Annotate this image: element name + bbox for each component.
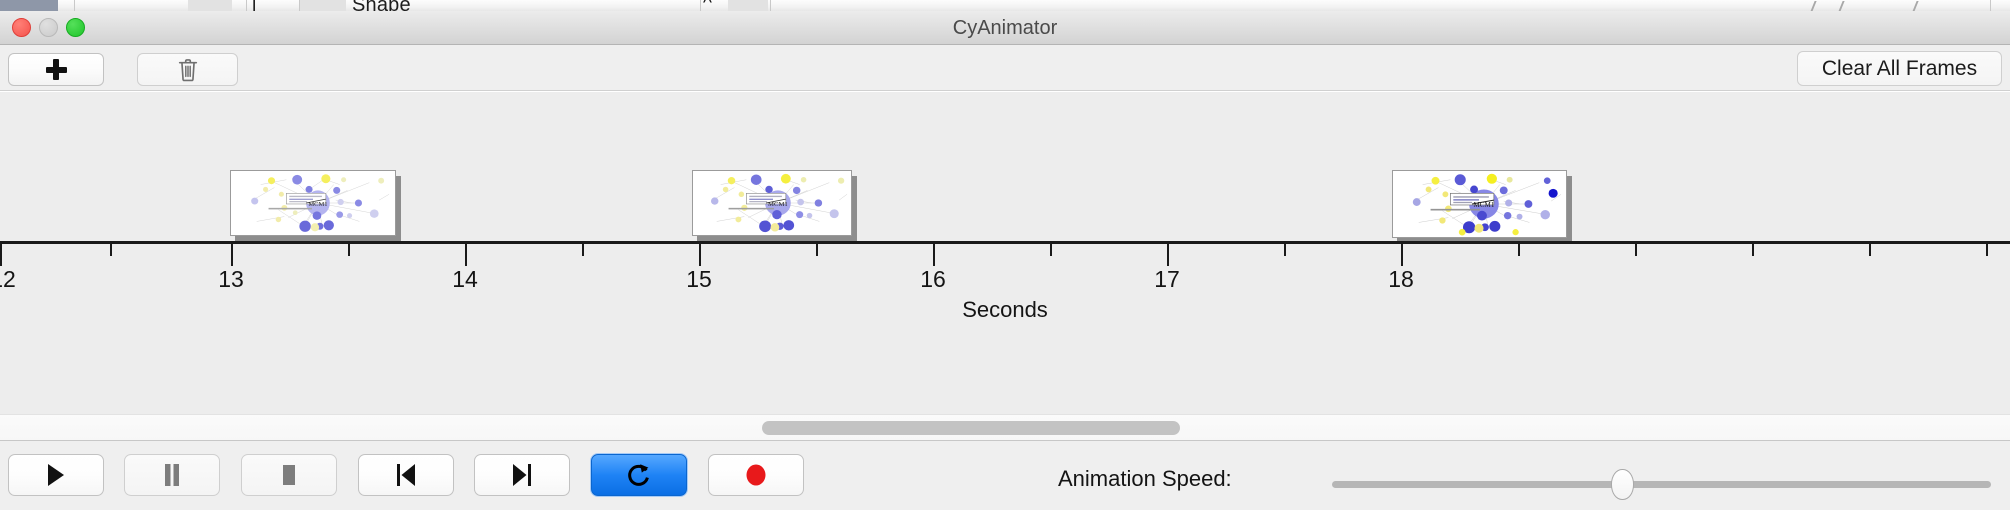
trash-icon xyxy=(177,58,199,82)
timeline-frame-thumbnail[interactable]: MCM1 xyxy=(230,170,396,236)
ruler-axis-line xyxy=(0,241,2010,244)
skip-to-end-button[interactable] xyxy=(474,454,570,496)
ruler-tick-major xyxy=(1401,244,1403,266)
ruler-tick-major xyxy=(465,244,467,266)
ruler-tick-minor xyxy=(1284,244,1286,256)
background-chevron xyxy=(1837,1,1856,11)
network-graph-frame-2: MCM1 xyxy=(693,171,851,235)
scrollbar-thumb[interactable] xyxy=(762,421,1180,435)
delete-frame-button[interactable] xyxy=(137,53,238,86)
background-chevron xyxy=(1911,1,1930,11)
ruler-label: 14 xyxy=(452,266,478,293)
animation-speed-label: Animation Speed: xyxy=(1058,466,1232,492)
timeline-panel[interactable]: MCM1 xyxy=(0,91,2010,414)
timeline-frame-thumbnail[interactable]: MCM1 xyxy=(1392,170,1567,238)
ruler-label: 17 xyxy=(1154,266,1180,293)
background-panel xyxy=(728,0,768,11)
background-dark-block xyxy=(0,0,58,11)
ruler-label: 15 xyxy=(686,266,712,293)
skip-back-icon xyxy=(395,463,417,487)
pause-icon xyxy=(162,463,182,487)
frame-sheet: MCM1 xyxy=(230,170,396,236)
timeline-ruler[interactable]: 12 13 14 15 16 17 18 Seconds xyxy=(0,241,2010,331)
toolbar: Clear All Frames xyxy=(0,45,2010,91)
stop-button[interactable] xyxy=(241,454,337,496)
ruler-tick-minor xyxy=(1635,244,1637,256)
ruler-tick-minor xyxy=(1752,244,1754,256)
loop-button[interactable] xyxy=(591,454,687,496)
background-app-strip: [ Shape ^ xyxy=(0,0,2010,11)
record-button[interactable] xyxy=(708,454,804,496)
cyanimator-window: [ Shape ^ CyAnimator xyxy=(0,0,2010,510)
ruler-tick-minor xyxy=(1869,244,1871,256)
slider-track[interactable] xyxy=(1332,481,1991,488)
ruler-tick-minor xyxy=(582,244,584,256)
network-graph-frame-3: MCM1 xyxy=(1393,171,1566,237)
background-panel xyxy=(300,0,346,11)
record-icon xyxy=(744,463,768,487)
ruler-tick-minor xyxy=(1518,244,1520,256)
network-graph-frame-1: MCM1 xyxy=(231,171,395,235)
ruler-tick-minor xyxy=(1050,244,1052,256)
pause-button[interactable] xyxy=(124,454,220,496)
ruler-tick-minor xyxy=(348,244,350,256)
background-chevron xyxy=(1809,1,1828,11)
ruler-axis-title: Seconds xyxy=(0,297,2010,323)
svg-text:MCM1: MCM1 xyxy=(1473,201,1494,209)
play-button[interactable] xyxy=(8,454,104,496)
ruler-tick-minor xyxy=(110,244,112,256)
plus-icon xyxy=(46,59,67,80)
frame-sheet: MCM1 xyxy=(692,170,852,236)
background-app-word: Shape xyxy=(352,0,411,11)
ruler-tick-major xyxy=(1167,244,1169,266)
loop-icon xyxy=(627,462,651,488)
frame-sheet: MCM1 xyxy=(1392,170,1567,238)
ruler-label: 18 xyxy=(1388,266,1414,293)
background-divider xyxy=(770,0,771,11)
background-panel xyxy=(188,0,232,11)
background-glyph-bracket: [ xyxy=(252,0,257,11)
title-bar[interactable]: CyAnimator xyxy=(0,11,2010,45)
ruler-tick-minor xyxy=(816,244,818,256)
background-divider xyxy=(246,0,247,11)
ruler-label: 12 xyxy=(0,266,16,293)
ruler-label: 16 xyxy=(920,266,946,293)
animation-speed-slider[interactable] xyxy=(1332,481,1991,488)
clear-all-frames-button[interactable]: Clear All Frames xyxy=(1797,51,2002,86)
ruler-tick-major xyxy=(231,244,233,266)
timeline-top-divider xyxy=(0,91,2010,92)
ruler-tick-minor xyxy=(1986,244,1988,256)
ruler-tick-major xyxy=(933,244,935,266)
svg-text:MCM1: MCM1 xyxy=(768,201,788,208)
timeline-frame-thumbnail[interactable]: MCM1 xyxy=(692,170,852,236)
add-frame-button[interactable] xyxy=(8,53,104,86)
slider-thumb[interactable] xyxy=(1611,469,1634,500)
window-title: CyAnimator xyxy=(0,11,2010,45)
ruler-tick-major xyxy=(0,244,2,266)
skip-to-start-button[interactable] xyxy=(358,454,454,496)
background-glyph-caret: ^ xyxy=(703,0,712,11)
ruler-tick-major xyxy=(699,244,701,266)
ruler-label: 13 xyxy=(218,266,244,293)
background-divider xyxy=(74,0,75,11)
timeline-horizontal-scrollbar[interactable] xyxy=(0,414,2010,441)
stop-icon xyxy=(279,463,299,487)
play-icon xyxy=(46,463,66,487)
background-divider xyxy=(700,0,701,11)
svg-text:MCM1: MCM1 xyxy=(308,201,327,208)
playback-toolbar: Animation Speed: xyxy=(0,441,2010,510)
background-divider xyxy=(1990,0,1991,11)
skip-forward-icon xyxy=(511,463,533,487)
